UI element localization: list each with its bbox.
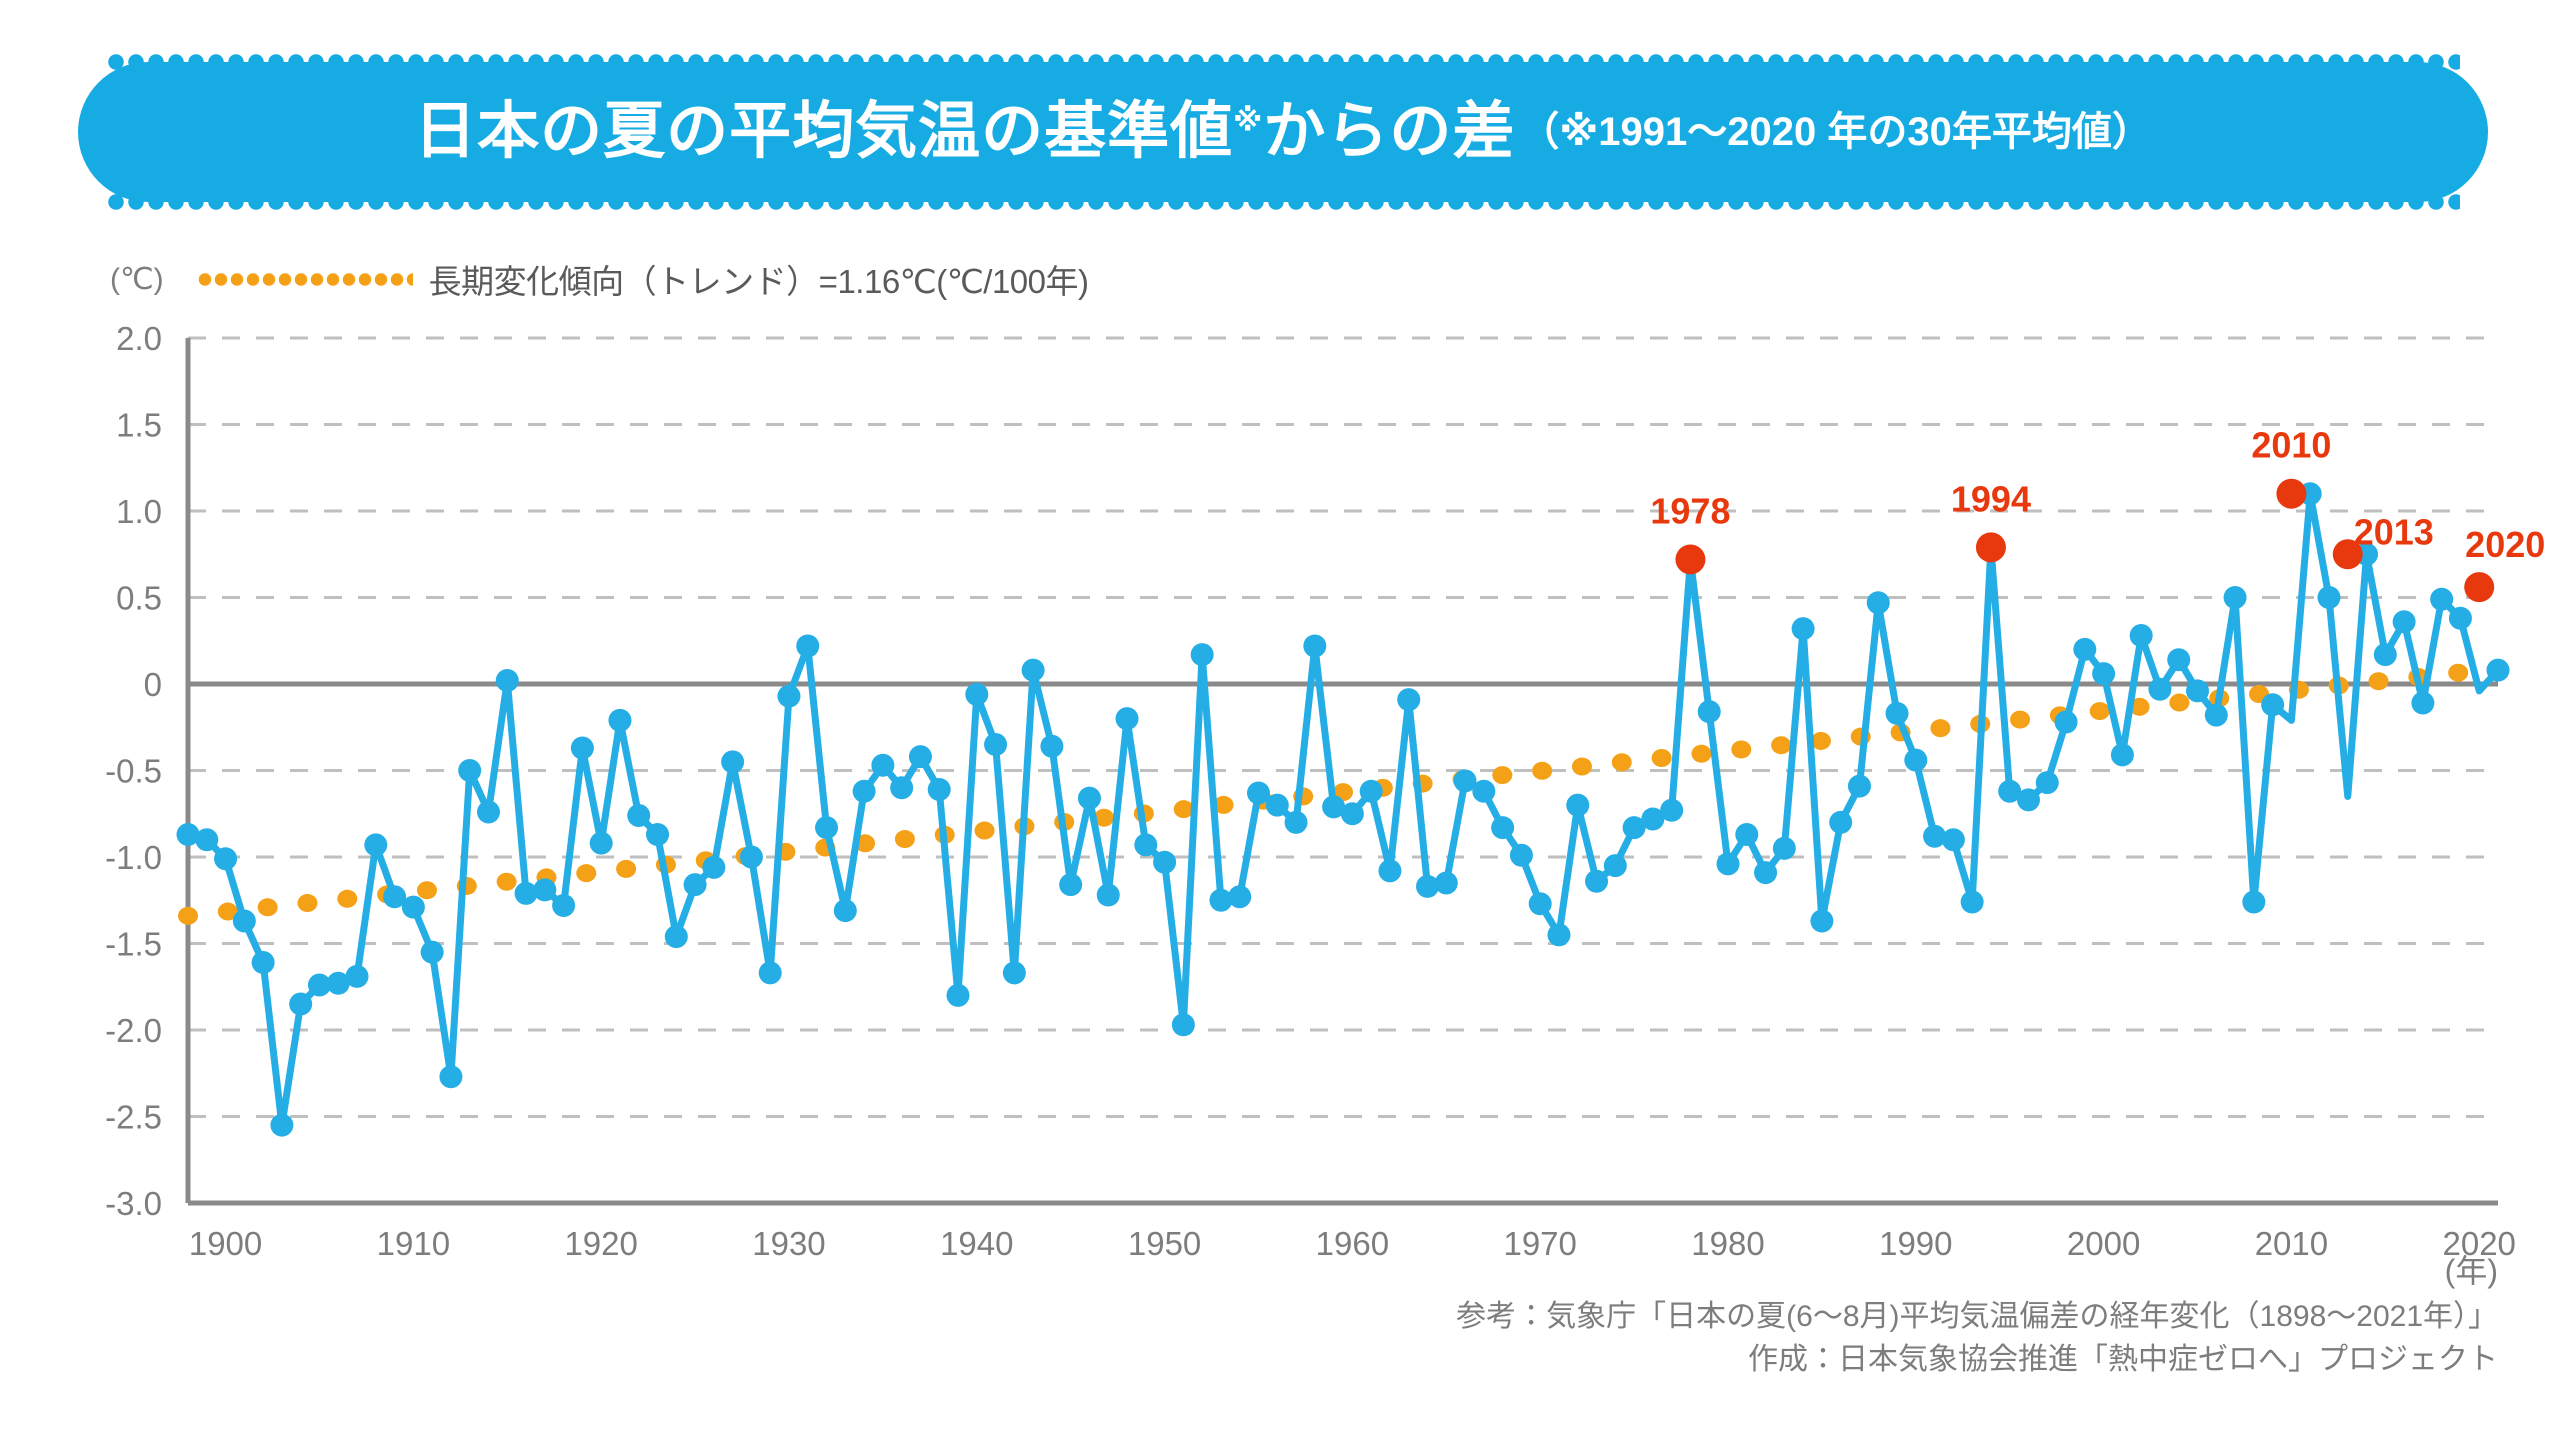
x-axis-tick-label: 1960 bbox=[1316, 1225, 1389, 1262]
y-axis-tick-label: -0.5 bbox=[105, 753, 162, 790]
data-point-marker bbox=[383, 885, 406, 908]
data-point-marker bbox=[1529, 892, 1552, 915]
data-point-marker bbox=[552, 894, 575, 917]
data-point-marker bbox=[346, 965, 369, 988]
y-axis-tick-label: 0 bbox=[144, 666, 162, 703]
data-point-marker bbox=[2055, 711, 2078, 734]
trend-line-dot bbox=[1652, 749, 1672, 767]
data-point-marker bbox=[1134, 833, 1157, 856]
data-point-marker bbox=[1266, 794, 1289, 817]
trend-line-dot bbox=[497, 873, 517, 891]
peak-year-label: 1994 bbox=[1951, 478, 2031, 519]
page-title-note: （※1991〜2020 年の30年平均値） bbox=[1519, 112, 2151, 152]
data-point-marker bbox=[1604, 854, 1627, 877]
trend-line-dot bbox=[2249, 685, 2269, 703]
data-point-marker bbox=[1285, 811, 1308, 834]
trend-line-dot bbox=[1293, 787, 1313, 805]
data-point-marker bbox=[2036, 771, 2059, 794]
x-axis-tick-label: 1940 bbox=[940, 1225, 1013, 1262]
trend-line-dot bbox=[536, 868, 556, 886]
data-point-marker bbox=[608, 709, 631, 732]
trend-line-dot bbox=[1492, 766, 1512, 784]
data-point-marker bbox=[1378, 859, 1401, 882]
data-point-marker bbox=[1360, 780, 1383, 803]
data-point-marker bbox=[214, 847, 237, 870]
data-point-marker bbox=[2487, 659, 2510, 682]
y-axis-tick-label: 1.5 bbox=[116, 407, 162, 444]
data-point-marker bbox=[1472, 780, 1495, 803]
trend-line-dot bbox=[2488, 659, 2508, 677]
data-point-marker bbox=[195, 828, 218, 851]
data-point-marker bbox=[2374, 643, 2397, 666]
trend-line-dot bbox=[1054, 813, 1074, 831]
data-point-marker bbox=[1867, 591, 1890, 614]
data-point-marker bbox=[2205, 704, 2228, 727]
y-axis-tick-label: -3.0 bbox=[105, 1185, 162, 1222]
data-point-marker bbox=[1491, 816, 1514, 839]
data-point-marker bbox=[1585, 870, 1608, 893]
data-point-marker bbox=[2261, 693, 2284, 716]
trend-line-dot bbox=[1413, 775, 1433, 793]
data-point-marker bbox=[909, 745, 932, 768]
trend-line-dot bbox=[895, 830, 915, 848]
data-point-marker bbox=[1660, 799, 1683, 822]
highlighted-data-point bbox=[1976, 532, 2006, 562]
trend-line-dot bbox=[1572, 758, 1592, 776]
data-point-marker bbox=[2148, 678, 2171, 701]
trend-line-dot bbox=[417, 881, 437, 899]
x-axis-tick-label: 1950 bbox=[1128, 1225, 1201, 1262]
trend-line-dot bbox=[2369, 672, 2389, 690]
data-point-marker bbox=[2430, 588, 2453, 611]
trend-line-dot bbox=[1771, 736, 1791, 754]
y-axis-tick-label: -2.0 bbox=[105, 1012, 162, 1049]
trend-line-dot bbox=[457, 877, 477, 895]
data-point-marker bbox=[627, 804, 650, 827]
data-point-marker bbox=[1792, 617, 1815, 640]
data-point-marker bbox=[1022, 659, 1045, 682]
data-point-marker bbox=[2317, 586, 2340, 609]
x-axis-tick-label: 1980 bbox=[1691, 1225, 1764, 1262]
x-axis-unit-label: (年) bbox=[2445, 1246, 2498, 1292]
trend-line-dot bbox=[736, 847, 756, 865]
data-point-marker bbox=[871, 754, 894, 777]
data-point-marker bbox=[684, 873, 707, 896]
data-point-marker bbox=[2242, 890, 2265, 913]
data-point-marker bbox=[402, 896, 425, 919]
x-axis-tick-label: 2000 bbox=[2067, 1225, 2140, 1262]
trend-line-dot bbox=[656, 856, 676, 874]
x-axis-tick-label: 1920 bbox=[564, 1225, 637, 1262]
trend-line-dot bbox=[1134, 804, 1154, 822]
data-point-marker bbox=[1641, 807, 1664, 830]
data-point-marker bbox=[1228, 885, 1251, 908]
peak-year-label: 2020 bbox=[2465, 524, 2545, 565]
data-point-marker bbox=[1172, 1013, 1195, 1036]
data-point-marker bbox=[1904, 749, 1927, 772]
data-point-marker bbox=[1247, 781, 1270, 804]
trend-line-dot bbox=[696, 851, 716, 869]
data-point-marker bbox=[1754, 861, 1777, 884]
page-title-main: 日本の夏の平均気温の基準値 bbox=[414, 97, 1233, 166]
data-point-marker bbox=[1454, 769, 1477, 792]
trend-line-dot bbox=[2329, 676, 2349, 694]
peak-year-label: 2010 bbox=[2251, 425, 2331, 466]
data-point-marker bbox=[477, 801, 500, 824]
data-point-marker bbox=[2186, 679, 2209, 702]
data-point-marker bbox=[984, 733, 1007, 756]
data-point-marker bbox=[590, 832, 613, 855]
data-point-marker bbox=[2449, 607, 2472, 630]
data-point-marker bbox=[2073, 638, 2096, 661]
trend-line-swatch-icon bbox=[198, 273, 413, 286]
trend-line-dot bbox=[1811, 732, 1831, 750]
data-point-marker bbox=[1886, 702, 1909, 725]
chart-area: 2.01.51.00.50-0.5-1.0-1.5-2.0-2.5-3.0190… bbox=[0, 0, 2560, 1440]
data-point-marker bbox=[1829, 811, 1852, 834]
data-point-marker bbox=[947, 984, 970, 1007]
data-point-marker bbox=[1153, 851, 1176, 874]
data-point-marker bbox=[740, 846, 763, 869]
data-point-marker bbox=[1998, 780, 2021, 803]
y-axis-unit-label: (℃) bbox=[110, 262, 164, 297]
data-point-marker bbox=[1341, 802, 1364, 825]
footer-reference-line: 参考：気象庁「日本の夏(6〜8月)平均気温偏差の経年変化（1898〜2021年）… bbox=[1456, 1296, 2498, 1339]
data-point-marker bbox=[2299, 482, 2322, 505]
data-point-marker bbox=[890, 776, 913, 799]
trend-line-dot bbox=[1174, 800, 1194, 818]
data-point-marker bbox=[1397, 688, 1420, 711]
y-axis-tick-label: -1.0 bbox=[105, 839, 162, 876]
data-point-marker bbox=[2355, 543, 2378, 566]
highlighted-data-point bbox=[2333, 539, 2363, 569]
data-point-marker bbox=[1303, 634, 1326, 657]
trend-line-dot bbox=[1094, 809, 1114, 827]
data-point-marker bbox=[1510, 844, 1533, 867]
x-axis-tick-label: 1990 bbox=[1879, 1225, 1952, 1262]
trend-line-dot bbox=[1930, 719, 1950, 737]
y-axis-tick-label: 1.0 bbox=[116, 493, 162, 530]
temperature-anomaly-chart: 2.01.51.00.50-0.5-1.0-1.5-2.0-2.5-3.0190… bbox=[0, 0, 2560, 1440]
data-point-marker bbox=[1942, 828, 1965, 851]
trend-line-dot bbox=[2448, 664, 2468, 682]
data-point-marker bbox=[1040, 735, 1063, 758]
x-axis-tick-label: 1900 bbox=[189, 1225, 262, 1262]
data-point-marker bbox=[1698, 700, 1721, 723]
data-point-marker bbox=[2111, 743, 2134, 766]
data-point-marker bbox=[1435, 871, 1458, 894]
data-point-marker bbox=[458, 759, 481, 782]
highlighted-data-point bbox=[2276, 479, 2306, 509]
data-point-marker bbox=[1735, 823, 1758, 846]
data-point-marker bbox=[439, 1065, 462, 1088]
data-point-marker bbox=[965, 683, 988, 706]
data-point-marker bbox=[1810, 910, 1833, 933]
highlighted-data-point bbox=[1675, 544, 1705, 574]
source-footer: 参考：気象庁「日本の夏(6〜8月)平均気温偏差の経年変化（1898〜2021年）… bbox=[1456, 1296, 2498, 1381]
data-point-marker bbox=[1059, 873, 1082, 896]
trend-line-dot bbox=[2169, 694, 2189, 712]
data-point-marker bbox=[421, 941, 444, 964]
trend-line-dot bbox=[2408, 668, 2428, 686]
x-axis-tick-label: 1910 bbox=[377, 1225, 450, 1262]
x-axis-tick-label: 1930 bbox=[752, 1225, 825, 1262]
data-point-marker bbox=[270, 1114, 293, 1137]
page-title: 日本の夏の平均気温の基準値※からの差 bbox=[414, 101, 1515, 163]
peak-year-label: 2013 bbox=[2354, 511, 2434, 552]
data-point-marker bbox=[2017, 788, 2040, 811]
trend-line-dot bbox=[1731, 740, 1751, 758]
trend-line-dot bbox=[2209, 689, 2229, 707]
data-point-marker bbox=[834, 899, 857, 922]
trend-line-dot bbox=[1452, 770, 1472, 788]
y-axis-tick-label: 0.5 bbox=[116, 580, 162, 617]
data-point-marker bbox=[252, 951, 275, 974]
trend-line-dot bbox=[1014, 817, 1034, 835]
trend-line-dot bbox=[1532, 762, 1552, 780]
trend-line-dot bbox=[2130, 698, 2150, 716]
trend-line-dot bbox=[576, 864, 596, 882]
data-point-marker bbox=[1717, 852, 1740, 875]
y-axis-tick-label: -1.5 bbox=[105, 926, 162, 963]
data-point-marker bbox=[2092, 662, 2115, 685]
data-point-marker bbox=[2167, 648, 2190, 671]
data-point-marker bbox=[928, 778, 951, 801]
data-point-marker bbox=[1097, 884, 1120, 907]
temperature-series-line bbox=[188, 494, 2498, 1125]
trend-line-dot bbox=[975, 822, 995, 840]
footer-author-line: 作成：日本気象協会推進「熱中症ゼロへ」プロジェクト bbox=[1456, 1339, 2498, 1382]
data-point-marker bbox=[364, 833, 387, 856]
data-point-marker bbox=[1961, 890, 1984, 913]
peak-year-label: 1978 bbox=[1650, 490, 1730, 531]
data-point-marker bbox=[533, 878, 556, 901]
data-point-marker bbox=[1923, 825, 1946, 848]
trend-line-dot bbox=[337, 890, 357, 908]
trend-line-dot bbox=[616, 860, 636, 878]
chart-legend: (℃) 長期変化傾向（トレンド）=1.16℃(℃/100年) bbox=[110, 258, 1089, 300]
data-point-marker bbox=[1773, 837, 1796, 860]
data-point-marker bbox=[2393, 610, 2416, 633]
data-point-marker bbox=[1191, 643, 1214, 666]
trend-line-dot bbox=[218, 903, 238, 921]
trend-line-dot bbox=[855, 834, 875, 852]
data-point-marker bbox=[1566, 794, 1589, 817]
data-point-marker bbox=[515, 882, 538, 905]
title-banner: 日本の夏の平均気温の基準値※からの差 （※1991〜2020 年の30年平均値） bbox=[78, 62, 2488, 202]
trend-line-dot bbox=[1214, 796, 1234, 814]
x-axis-tick-label: 2010 bbox=[2255, 1225, 2328, 1262]
data-point-marker bbox=[1416, 875, 1439, 898]
trend-line-dot bbox=[1333, 783, 1353, 801]
y-axis-tick-label: 2.0 bbox=[116, 320, 162, 357]
data-point-marker bbox=[1623, 816, 1646, 839]
data-point-marker bbox=[721, 750, 744, 773]
trend-line-dot bbox=[1970, 715, 1990, 733]
trend-line-dot bbox=[297, 894, 317, 912]
trend-line-dot bbox=[1253, 792, 1273, 810]
data-point-marker bbox=[777, 685, 800, 708]
data-point-marker bbox=[571, 737, 594, 760]
trend-line-dot bbox=[1891, 723, 1911, 741]
data-point-marker bbox=[327, 972, 350, 995]
trend-line-dot bbox=[1691, 745, 1711, 763]
data-point-marker bbox=[796, 634, 819, 657]
data-point-marker bbox=[646, 823, 669, 846]
data-point-marker bbox=[2130, 624, 2153, 647]
data-point-marker bbox=[2411, 692, 2434, 715]
y-axis-tick-label: -2.5 bbox=[105, 1099, 162, 1136]
trend-line-dot bbox=[178, 907, 198, 925]
data-point-marker bbox=[1322, 795, 1345, 818]
data-point-marker bbox=[1209, 889, 1232, 912]
trend-line-dot bbox=[2289, 681, 2309, 699]
legend-trend-label: 長期変化傾向（トレンド）=1.16℃(℃/100年) bbox=[429, 255, 1089, 303]
trend-line-dot bbox=[1612, 753, 1632, 771]
data-point-marker bbox=[1547, 923, 1570, 946]
data-point-marker bbox=[759, 961, 782, 984]
page-title-tail: からの差 bbox=[1263, 97, 1515, 166]
data-point-marker bbox=[1848, 775, 1871, 798]
trend-line-dot bbox=[1851, 728, 1871, 746]
trend-line-dot bbox=[1373, 779, 1393, 797]
data-point-marker bbox=[177, 823, 200, 846]
data-point-marker bbox=[665, 925, 688, 948]
data-point-marker bbox=[1116, 707, 1139, 730]
trend-line-dot bbox=[2090, 702, 2110, 720]
data-point-marker bbox=[702, 856, 725, 879]
trend-line-dot bbox=[258, 898, 278, 916]
data-point-marker bbox=[1003, 961, 1026, 984]
trend-line-dot bbox=[377, 885, 397, 903]
data-point-marker bbox=[289, 993, 312, 1016]
data-point-marker bbox=[2224, 586, 2247, 609]
data-point-marker bbox=[815, 816, 838, 839]
trend-line-dot bbox=[815, 839, 835, 857]
data-point-marker bbox=[1078, 787, 1101, 810]
data-point-marker bbox=[308, 974, 331, 997]
trend-line-dot bbox=[935, 826, 955, 844]
highlighted-data-point bbox=[2464, 572, 2494, 602]
trend-line-dot bbox=[2050, 706, 2070, 724]
trend-line-dot bbox=[2010, 711, 2030, 729]
data-point-marker bbox=[496, 669, 519, 692]
page-title-superscript: ※ bbox=[1233, 104, 1263, 137]
trend-line-dot bbox=[775, 843, 795, 861]
data-point-marker bbox=[233, 910, 256, 933]
x-axis-tick-label: 1970 bbox=[1503, 1225, 1576, 1262]
data-point-marker bbox=[853, 780, 876, 803]
